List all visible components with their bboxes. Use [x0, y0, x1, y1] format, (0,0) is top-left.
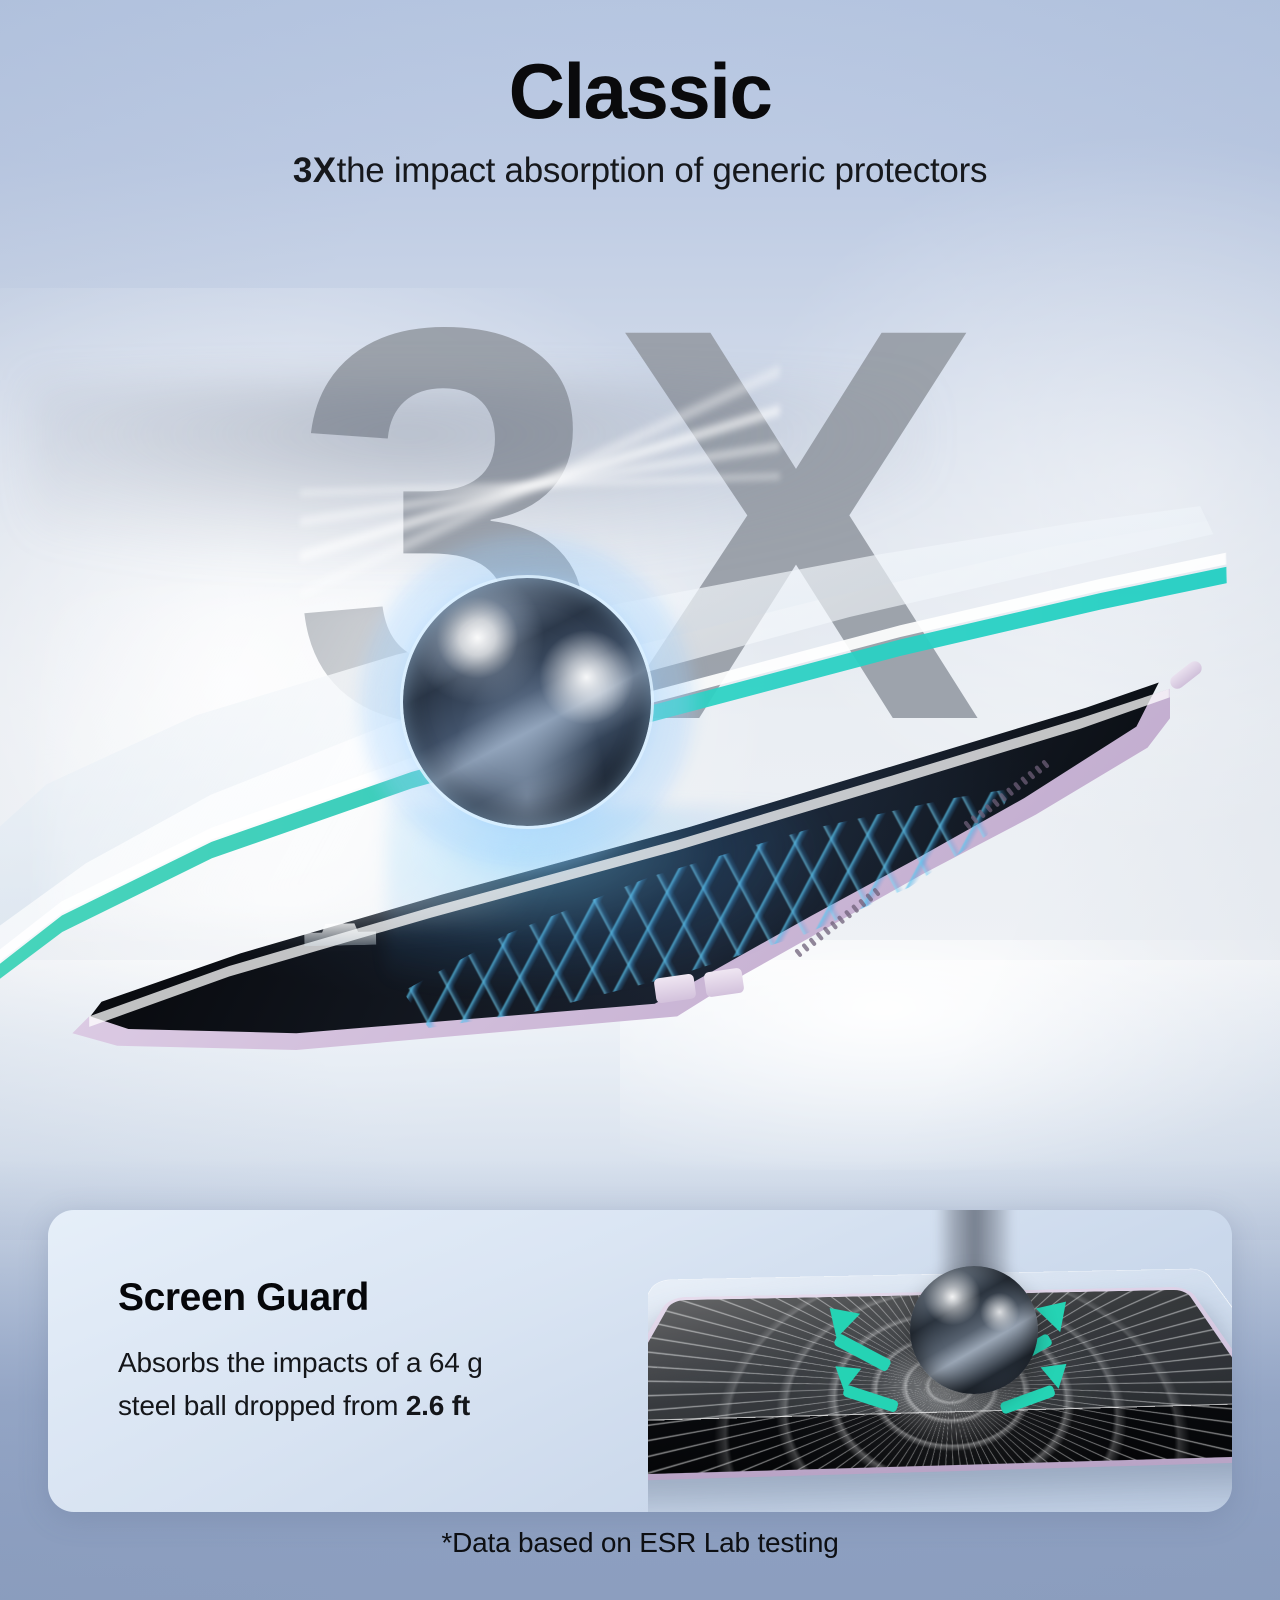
info-card-text: Screen Guard Absorbs the impacts of a 64… [118, 1276, 588, 1427]
volume-down-button[interactable] [703, 967, 744, 997]
header: Classic 3Xthe impact absorption of gener… [0, 52, 1280, 191]
footer-note: *Data based on ESR Lab testing [0, 1527, 1280, 1559]
subtitle-rest: the impact absorption of generic protect… [337, 151, 988, 190]
steel-ball [403, 578, 651, 826]
subtitle-highlight: 3X [293, 151, 337, 190]
info-card-body-line2-pre: steel ball dropped from [118, 1390, 406, 1421]
page-subtitle: 3Xthe impact absorption of generic prote… [0, 152, 1280, 191]
demo-steel-ball [910, 1266, 1038, 1394]
impact-demo-visual [648, 1210, 1232, 1512]
glass-camera-notch [304, 923, 376, 947]
info-card-body-line1: Absorbs the impacts of a 64 g [118, 1347, 483, 1378]
info-card: Screen Guard Absorbs the impacts of a 64… [48, 1210, 1232, 1512]
info-card-body: Absorbs the impacts of a 64 g steel ball… [118, 1342, 588, 1427]
poster-stage: 3X Classic 3Xthe impact absorption of ge… [0, 0, 1280, 1600]
page-title: Classic [0, 52, 1280, 130]
steel-ball-rim-glow [400, 575, 654, 829]
info-card-body-highlight: 2.6 ft [406, 1390, 470, 1421]
info-card-title: Screen Guard [118, 1276, 588, 1320]
